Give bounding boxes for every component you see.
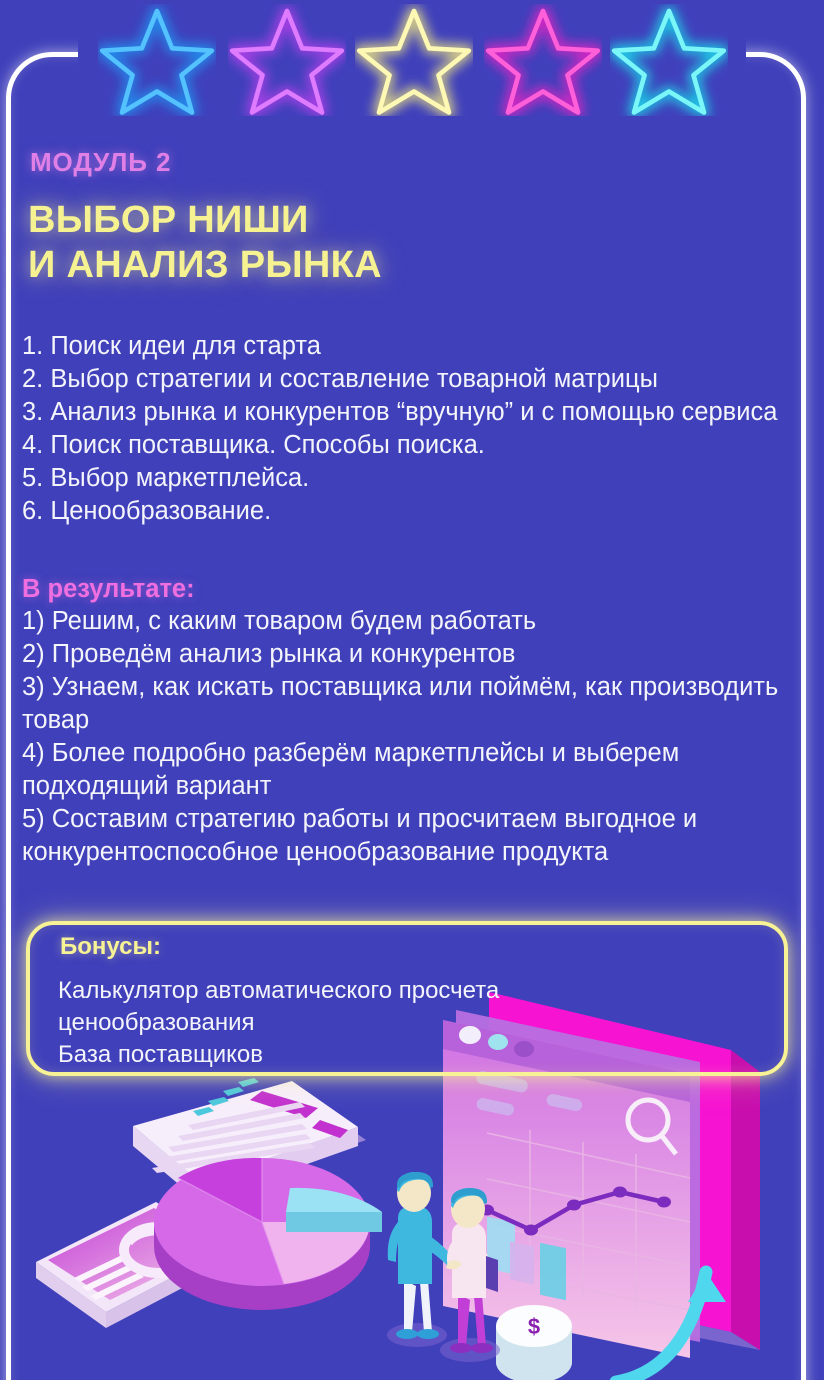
list-item: 2) Проведём анализ рынка и конкурентов [22, 638, 812, 671]
title-line-1: ВЫБОР НИШИ [28, 198, 382, 243]
list-item: 5) Составим стратегию работы и просчитае… [22, 803, 812, 869]
module-card-page: $ [0, 0, 824, 1380]
pie-chart-3d [154, 1158, 382, 1310]
coin-stack-icon: $ [496, 1305, 572, 1380]
list-item: Калькулятор автоматического просчета цен… [58, 975, 698, 1039]
neon-stars-row [0, 0, 824, 100]
list-item: 1. Поиск идеи для старта [22, 330, 802, 363]
star-3-icon [355, 4, 473, 116]
title-line-2: И АНАЛИЗ РЫНКА [28, 243, 382, 288]
page-title: ВЫБОР НИШИ И АНАЛИЗ РЫНКА [28, 198, 382, 288]
list-item: 5. Выбор маркетплейса. [22, 462, 802, 495]
list-item: 4) Более подробно разберём маркетплейсы … [22, 737, 812, 803]
list-item: 3) Узнаем, как искать поставщика или пой… [22, 671, 812, 737]
frame-gap-mask [78, 38, 746, 74]
list-item: 2. Выбор стратегии и составление товарно… [22, 363, 802, 396]
bonus-heading: Бонусы: [60, 933, 161, 961]
star-2-icon [228, 4, 346, 116]
results-heading: В результате: [22, 573, 195, 606]
topics-list: 1. Поиск идеи для старта 2. Выбор страте… [22, 330, 802, 528]
svg-text:$: $ [528, 1314, 540, 1339]
list-item: 6. Ценообразование. [22, 495, 802, 528]
list-item: База поставщиков [58, 1039, 698, 1071]
module-label: МОДУЛЬ 2 [30, 147, 171, 178]
star-1-icon [98, 4, 216, 116]
list-item: 3. Анализ рынка и конкурентов “вручную” … [22, 396, 802, 429]
star-5-icon [610, 4, 728, 116]
list-item: 4. Поиск поставщика. Способы поиска. [22, 429, 802, 462]
list-item: 1) Решим, с каким товаром будем работать [22, 605, 812, 638]
bonus-list: Калькулятор автоматического просчета цен… [58, 975, 698, 1071]
results-list: 1) Решим, с каким товаром будем работать… [22, 605, 812, 869]
star-4-icon [484, 4, 602, 116]
